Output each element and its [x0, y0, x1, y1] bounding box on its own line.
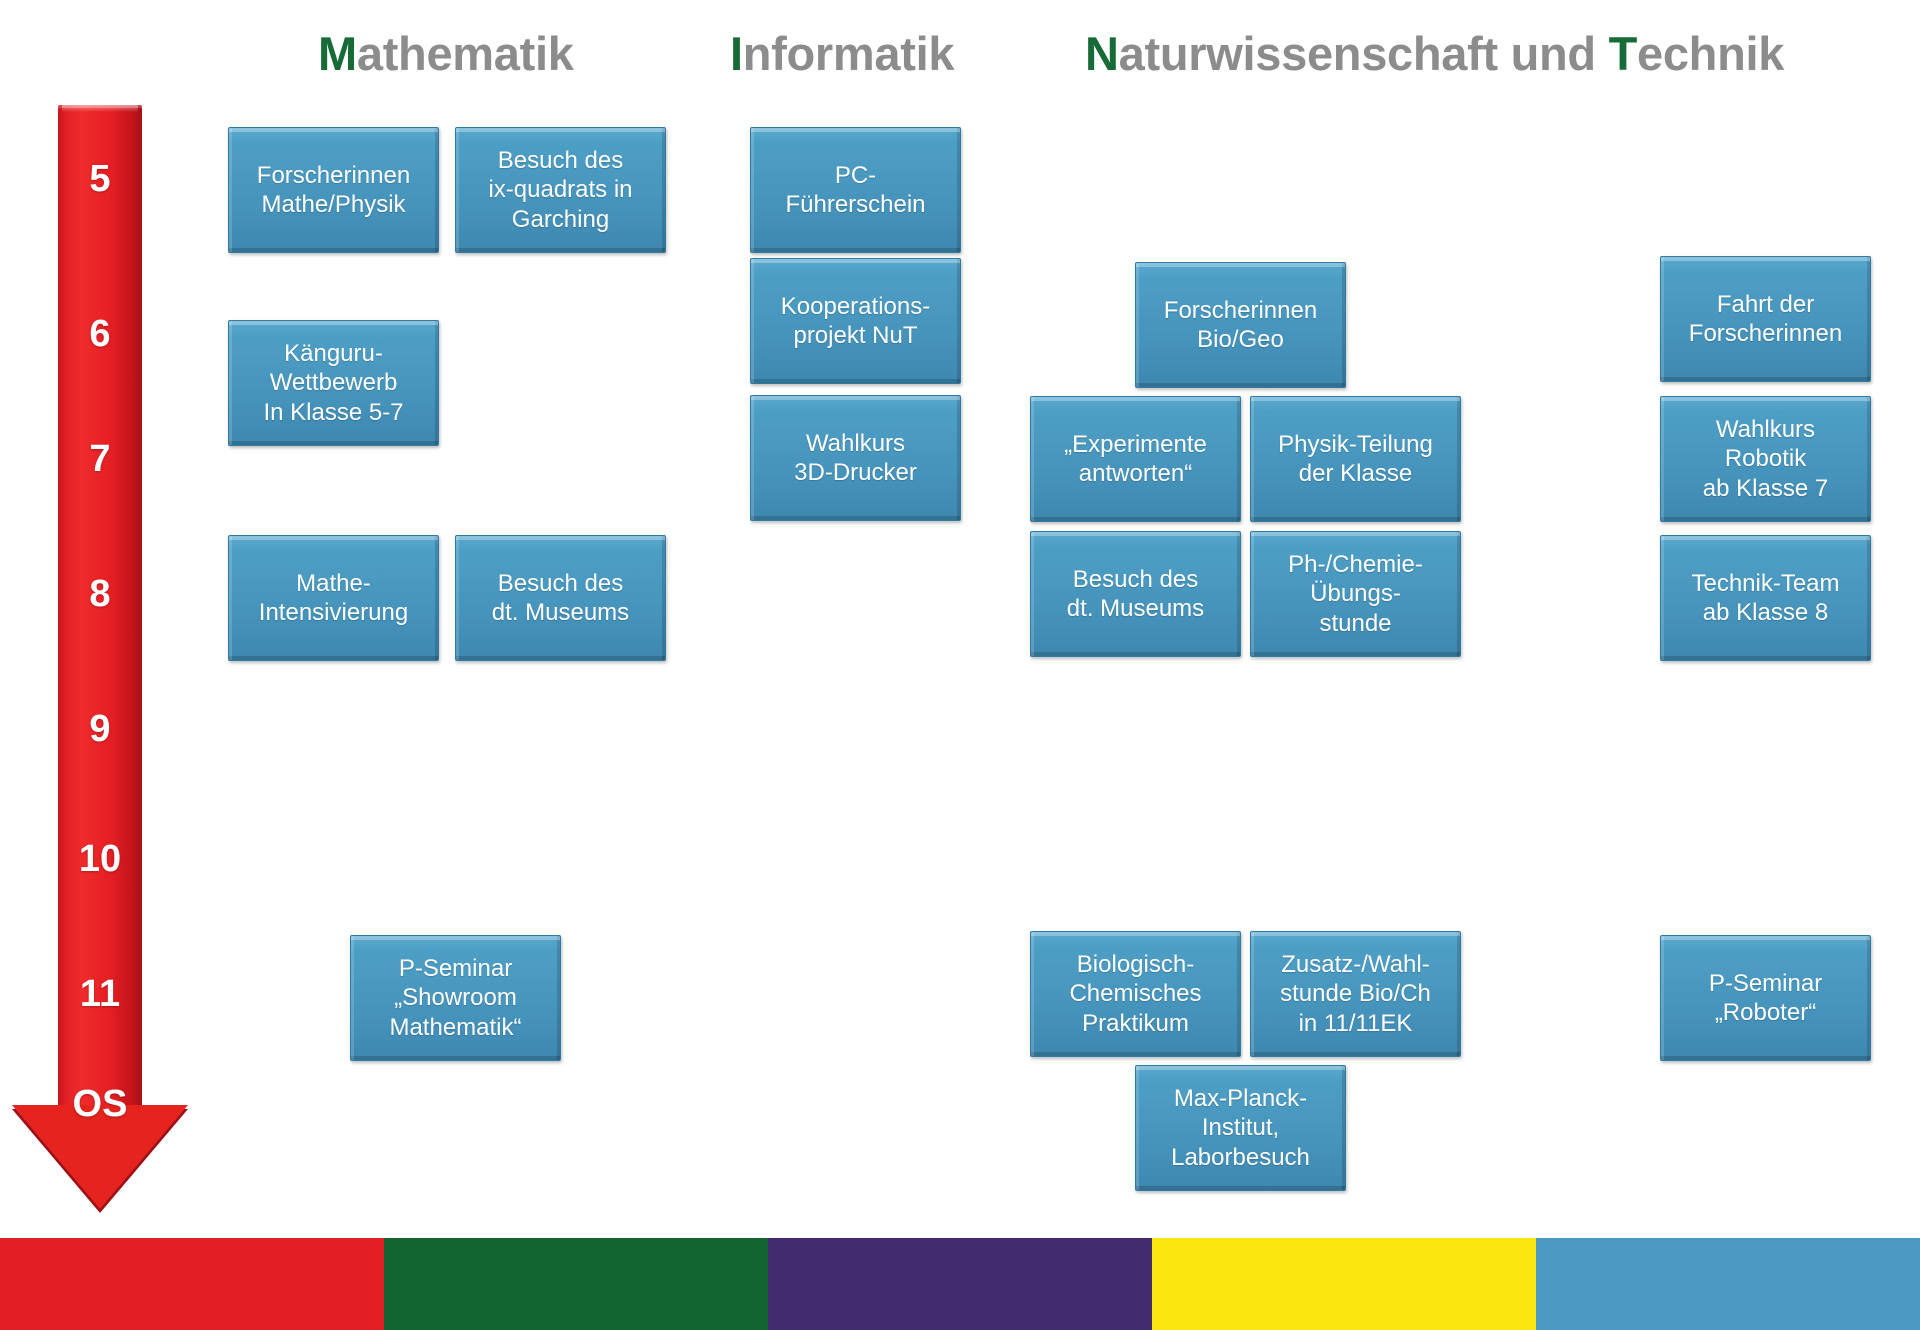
activity-box-line: Laborbesuch	[1144, 1143, 1337, 1172]
grade-label-os: OS	[58, 1085, 142, 1123]
grade-label-5: 5	[58, 160, 142, 198]
activity-box-line: Forscherinnen	[237, 161, 430, 190]
activity-box-label: WahlkursRobotikab Klasse 7	[1669, 415, 1862, 503]
activity-box-line: Besuch des	[464, 569, 657, 598]
activity-box-label: Fahrt derForscherinnen	[1669, 290, 1862, 349]
activity-box-line: Forscherinnen	[1144, 296, 1337, 325]
activity-box-k-nguru-wettbewerb-in-klasse-5-7[interactable]: Känguru-WettbewerbIn Klasse 5-7	[228, 320, 439, 446]
activity-box-line: Forscherinnen	[1669, 319, 1862, 348]
header-text-2: echnik	[1637, 27, 1784, 80]
activity-box-label: Max-Planck-Institut,Laborbesuch	[1144, 1084, 1337, 1172]
activity-box-label: Biologisch-ChemischesPraktikum	[1039, 950, 1232, 1038]
activity-box-line: dt. Museums	[1039, 594, 1232, 623]
activity-box-physik-teilung-der-klasse[interactable]: Physik-Teilungder Klasse	[1250, 396, 1461, 522]
activity-box-line: Besuch des	[464, 146, 657, 175]
activity-box-label: P-Seminar„ShowroomMathematik“	[359, 954, 552, 1042]
activity-box-line: Führerschein	[759, 190, 952, 219]
activity-box-line: Wettbewerb	[237, 368, 430, 397]
activity-box-line: stunde Bio/Ch	[1259, 979, 1452, 1008]
activity-box-label: „Experimenteantworten“	[1039, 430, 1232, 489]
activity-box-p-seminar-showroom-mathematik[interactable]: P-Seminar„ShowroomMathematik“	[350, 935, 561, 1061]
activity-box-line: ix-quadrats in	[464, 175, 657, 204]
activity-box-line: Mathematik“	[359, 1013, 552, 1042]
header-text: athematik	[357, 27, 574, 80]
activity-box-forscherinnen-bio-geo[interactable]: ForscherinnenBio/Geo	[1135, 262, 1346, 388]
activity-box-line: ab Klasse 7	[1669, 474, 1862, 503]
activity-box-technik-team-ab-klasse-8[interactable]: Technik-Teamab Klasse 8	[1660, 535, 1871, 661]
activity-box-label: Zusatz-/Wahl-stunde Bio/Chin 11/11EK	[1259, 950, 1452, 1038]
activity-box-mathe-intensivierung[interactable]: Mathe-Intensivierung	[228, 535, 439, 661]
activity-box-fahrt-der-forscherinnen[interactable]: Fahrt derForscherinnen	[1660, 256, 1871, 382]
column-header-mathematik: Mathematik	[318, 30, 574, 77]
grade-label-9: 9	[58, 710, 142, 748]
activity-box-line: Känguru-	[237, 339, 430, 368]
color-bar-segment-green	[384, 1238, 768, 1330]
activity-box-line: Robotik	[1669, 444, 1862, 473]
activity-box-line: Wahlkurs	[1669, 415, 1862, 444]
activity-box-line: Bio/Geo	[1144, 325, 1337, 354]
activity-box-line: „Experimente	[1039, 430, 1232, 459]
activity-box-label: ForscherinnenBio/Geo	[1144, 296, 1337, 355]
activity-box-forscherinnen-mathe-physik[interactable]: ForscherinnenMathe/Physik	[228, 127, 439, 253]
activity-box-zusatz-wahl-stunde-bio-ch-in-11-11ek[interactable]: Zusatz-/Wahl-stunde Bio/Chin 11/11EK	[1250, 931, 1461, 1057]
header-initial-letter: I	[730, 27, 743, 80]
activity-box-line: ab Klasse 8	[1669, 598, 1862, 627]
header-text: nformatik	[743, 27, 954, 80]
grade-label-7: 7	[58, 440, 142, 478]
color-bar-segment-red	[0, 1238, 384, 1330]
activity-box-label: Wahlkurs3D-Drucker	[759, 429, 952, 488]
activity-box-line: Physik-Teilung	[1259, 430, 1452, 459]
header-initial-letter: N	[1085, 27, 1119, 80]
activity-box-label: P-Seminar„Roboter“	[1669, 969, 1862, 1028]
activity-box-line: Chemisches	[1039, 979, 1232, 1008]
activity-box-line: 3D-Drucker	[759, 458, 952, 487]
color-bar-segment-yellow	[1152, 1238, 1536, 1330]
activity-box-line: stunde	[1259, 609, 1452, 638]
activity-box-line: P-Seminar	[1669, 969, 1862, 998]
column-header-naturwissenschaft-und-: Naturwissenschaft und Technik	[1085, 30, 1784, 77]
activity-box-line: Ph-/Chemie-	[1259, 550, 1452, 579]
activity-box-ph-chemie-bungs-stunde[interactable]: Ph-/Chemie-Übungs-stunde	[1250, 531, 1461, 657]
header-text: aturwissenschaft und	[1119, 27, 1609, 80]
activity-box-line: antworten“	[1039, 459, 1232, 488]
activity-box-line: Max-Planck-	[1144, 1084, 1337, 1113]
activity-box-line: Mathe/Physik	[237, 190, 430, 219]
activity-box-wahlkurs-robotik-ab-klasse-7[interactable]: WahlkursRobotikab Klasse 7	[1660, 396, 1871, 522]
activity-box-line: Wahlkurs	[759, 429, 952, 458]
activity-box-label: Besuch desdt. Museums	[1039, 565, 1232, 624]
activity-box-line: Intensivierung	[237, 598, 430, 627]
activity-box-line: Technik-Team	[1669, 569, 1862, 598]
activity-box-experimente-antworten[interactable]: „Experimenteantworten“	[1030, 396, 1241, 522]
activity-box-label: Technik-Teamab Klasse 8	[1669, 569, 1862, 628]
activity-box-line: Institut,	[1144, 1113, 1337, 1142]
activity-box-line: Garching	[464, 205, 657, 234]
activity-box-line: Übungs-	[1259, 579, 1452, 608]
activity-box-pc-f-hrerschein[interactable]: PC-Führerschein	[750, 127, 961, 253]
activity-box-wahlkurs-3d-drucker[interactable]: Wahlkurs3D-Drucker	[750, 395, 961, 521]
activity-box-line: Fahrt der	[1669, 290, 1862, 319]
activity-box-p-seminar-roboter[interactable]: P-Seminar„Roboter“	[1660, 935, 1871, 1061]
activity-box-label: Känguru-WettbewerbIn Klasse 5-7	[237, 339, 430, 427]
grade-label-8: 8	[58, 575, 142, 613]
activity-box-kooperations-projekt-nut[interactable]: Kooperations-projekt NuT	[750, 258, 961, 384]
activity-box-line: „Showroom	[359, 983, 552, 1012]
activity-box-line: Biologisch-	[1039, 950, 1232, 979]
activity-box-line: projekt NuT	[759, 321, 952, 350]
activity-box-line: Besuch des	[1039, 565, 1232, 594]
grade-label-6: 6	[58, 315, 142, 353]
activity-box-label: Kooperations-projekt NuT	[759, 292, 952, 351]
activity-box-besuch-des-ix-quadrats-in-garching[interactable]: Besuch desix-quadrats inGarching	[455, 127, 666, 253]
activity-box-label: Besuch desdt. Museums	[464, 569, 657, 628]
activity-box-label: Ph-/Chemie-Übungs-stunde	[1259, 550, 1452, 638]
activity-box-line: in 11/11EK	[1259, 1009, 1452, 1038]
activity-box-line: Zusatz-/Wahl-	[1259, 950, 1452, 979]
grade-level-arrow	[58, 105, 142, 1205]
header-initial-letter: M	[318, 27, 357, 80]
activity-box-label: Mathe-Intensivierung	[237, 569, 430, 628]
color-bar-segment-purple	[768, 1238, 1152, 1330]
activity-box-line: dt. Museums	[464, 598, 657, 627]
activity-box-biologisch-chemisches-praktikum[interactable]: Biologisch-ChemischesPraktikum	[1030, 931, 1241, 1057]
mint-overview-slide: MathematikInformatikNaturwissenschaft un…	[0, 0, 1920, 1330]
header-initial-letter-2: T	[1609, 27, 1637, 80]
activity-box-label: Besuch desix-quadrats inGarching	[464, 146, 657, 234]
grade-label-10: 10	[58, 840, 142, 878]
activity-box-line: P-Seminar	[359, 954, 552, 983]
activity-box-label: ForscherinnenMathe/Physik	[237, 161, 430, 220]
grade-label-11: 11	[58, 975, 142, 1013]
activity-box-line: In Klasse 5-7	[237, 398, 430, 427]
activity-box-line: Kooperations-	[759, 292, 952, 321]
activity-box-line: PC-	[759, 161, 952, 190]
activity-box-label: PC-Führerschein	[759, 161, 952, 220]
activity-box-label: Physik-Teilungder Klasse	[1259, 430, 1452, 489]
activity-box-besuch-des-dt-museums[interactable]: Besuch desdt. Museums	[455, 535, 666, 661]
activity-box-line: der Klasse	[1259, 459, 1452, 488]
activity-box-besuch-des-dt-museums[interactable]: Besuch desdt. Museums	[1030, 531, 1241, 657]
activity-box-line: Mathe-	[237, 569, 430, 598]
bottom-color-bar	[0, 1238, 1920, 1330]
column-header-informatik: Informatik	[730, 30, 954, 77]
activity-box-line: Praktikum	[1039, 1009, 1232, 1038]
color-bar-segment-blue	[1536, 1238, 1920, 1330]
activity-box-line: „Roboter“	[1669, 998, 1862, 1027]
activity-box-max-planck-institut-laborbesuch[interactable]: Max-Planck-Institut,Laborbesuch	[1135, 1065, 1346, 1191]
